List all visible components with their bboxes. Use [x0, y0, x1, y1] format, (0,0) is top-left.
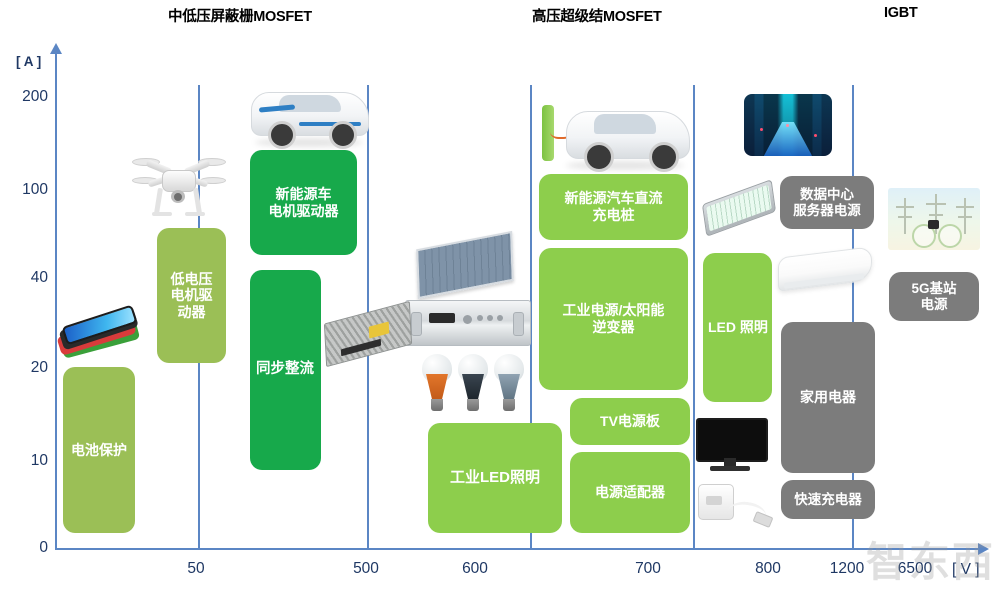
- rack-power-supply-image: [405, 300, 529, 344]
- box-battery-protection[interactable]: 电池保护: [63, 367, 135, 533]
- drone-image: [130, 152, 226, 224]
- box-led-lighting[interactable]: LED 照明: [703, 253, 772, 402]
- x-tick-600: 600: [445, 560, 505, 578]
- box-industrial-solar-inverter[interactable]: 工业电源/太阳能 逆变器: [539, 248, 688, 390]
- open-frame-power-supply-image: [325, 308, 409, 362]
- x-axis-arrow: [978, 543, 989, 555]
- y-tick-200: 200: [0, 88, 48, 106]
- y-axis-arrow: [50, 43, 62, 54]
- y-tick-40: 40: [0, 269, 48, 287]
- air-conditioner-image: [778, 248, 870, 300]
- box-low-voltage-motor-driver[interactable]: 低电压 电机驱 动器: [157, 228, 226, 363]
- box-tv-power-board[interactable]: TV电源板: [570, 398, 690, 445]
- usb-charger-image: [698, 478, 774, 534]
- segment-header-igbt: IGBT: [884, 5, 917, 21]
- box-ev-motor-driver[interactable]: 新能源车 电机驱动器: [250, 150, 357, 255]
- x-axis-unit: [ V ]: [952, 561, 980, 579]
- box-datacenter-server-power[interactable]: 数据中心 服务器电源: [780, 176, 874, 229]
- segment-header-low-mid-voltage: 中低压屏蔽栅MOSFET: [168, 5, 312, 26]
- x-tick-800: 800: [738, 560, 798, 578]
- box-ev-dc-charger[interactable]: 新能源汽车直流 充电桩: [539, 174, 688, 240]
- x-tick-1200: 1200: [817, 560, 877, 578]
- gridline-1200: [852, 85, 854, 548]
- y-tick-0: 0: [0, 539, 48, 557]
- y-axis-unit: [ A ]: [16, 54, 41, 69]
- monitor-image: [696, 418, 766, 476]
- electric-car-image: [247, 78, 372, 150]
- led-bulbs-image: [420, 352, 530, 422]
- watermark-logo: 智东西: [866, 528, 995, 588]
- y-axis-line: [55, 52, 57, 549]
- box-sync-rectifier[interactable]: 同步整流: [250, 270, 321, 470]
- chart-canvas: 中低压屏蔽栅MOSFET 高压超级结MOSFET IGBT [ A ] [ V …: [0, 0, 1000, 593]
- box-5g-base-station-power[interactable]: 5G基站 电源: [889, 272, 979, 321]
- x-axis-line: [55, 548, 980, 550]
- solar-panel-image: [416, 231, 514, 299]
- box-industrial-led-lighting[interactable]: 工业LED照明: [428, 423, 562, 533]
- power-grid-image: [888, 188, 980, 250]
- y-tick-10: 10: [0, 452, 48, 470]
- x-tick-500: 500: [336, 560, 396, 578]
- y-tick-20: 20: [0, 359, 48, 377]
- x-tick-6500: 6500: [885, 560, 945, 578]
- data-center-image: [744, 94, 832, 156]
- x-tick-700: 700: [618, 560, 678, 578]
- segment-header-high-voltage: 高压超级结MOSFET: [532, 5, 662, 26]
- x-tick-50: 50: [166, 560, 226, 578]
- box-power-adapter[interactable]: 电源适配器: [570, 452, 690, 533]
- y-tick-100: 100: [0, 181, 48, 199]
- led-street-light-image: [700, 186, 778, 236]
- box-home-appliance[interactable]: 家用电器: [781, 322, 875, 473]
- ev-charging-station-image: [536, 95, 696, 173]
- box-fast-charger[interactable]: 快速充电器: [781, 480, 875, 519]
- smartphones-image: [50, 298, 148, 369]
